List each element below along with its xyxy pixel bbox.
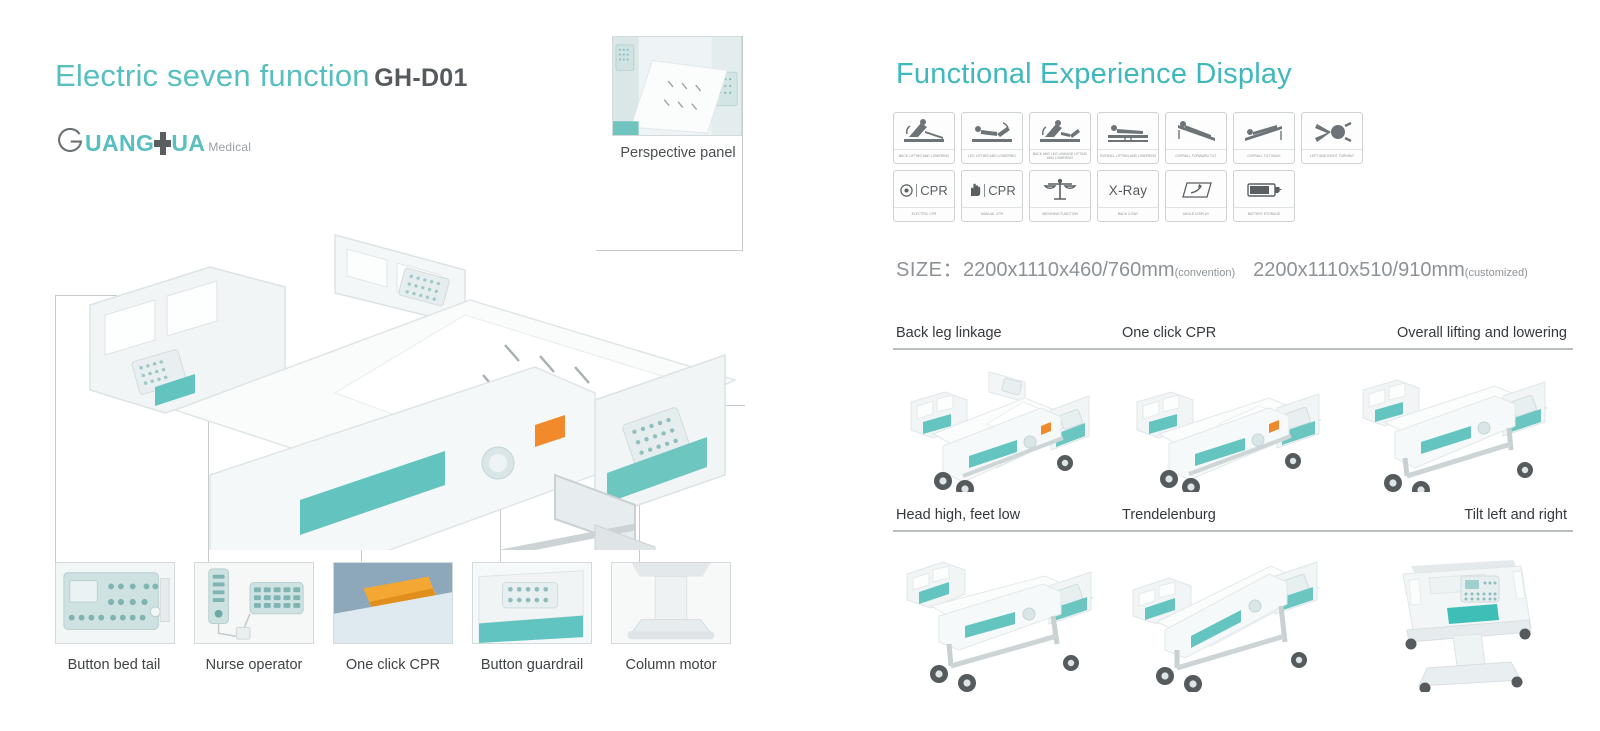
icon-label: BACK LIFTING AND LOWERING xyxy=(894,149,954,163)
control-panel-thumb xyxy=(55,562,175,644)
thumbnail-caption: Nurse operator xyxy=(194,657,314,673)
thumbnail-item: Nurse operator xyxy=(194,562,314,673)
gallery-images-row-1 xyxy=(893,350,1573,492)
hero-bed-image xyxy=(35,175,815,550)
icon-label: LEG LIFTING AND LOWERING xyxy=(962,149,1022,163)
overall-lifting-icon: OVERALL LIFTING AND LOWERING xyxy=(1097,112,1159,164)
brand-g-icon xyxy=(57,128,84,155)
page-title: Electric seven function GH-D01 xyxy=(55,58,468,94)
thumbnail-caption: Column motor xyxy=(611,657,731,673)
left-right-turning-icon: LEFT AND RIGHT TURNING xyxy=(1301,112,1363,164)
section-title: Functional Experience Display xyxy=(896,58,1292,91)
size-label: SIZE： xyxy=(896,259,963,281)
electric-cpr-icon: CPR ELECTRIC CPR xyxy=(893,170,955,222)
gallery-caption: Trendelenburg xyxy=(1119,507,1345,523)
gallery-caption: One click CPR xyxy=(1119,325,1345,341)
size-specification: SIZE：2200x1110x460/760mm(convention)2200… xyxy=(896,253,1528,282)
bed-back-leg-linkage xyxy=(893,350,1119,492)
title-main: Electric seven function xyxy=(55,58,370,93)
gallery: Back leg linkage One click CPR Overall l… xyxy=(893,325,1573,692)
gallery-images-row-2 xyxy=(893,532,1573,692)
bed-overall-lifting xyxy=(1345,350,1571,492)
thumbnail-item: Column motor xyxy=(611,562,731,673)
xray-text: X-Ray xyxy=(1109,183,1148,198)
brand-text-1: UANG xyxy=(85,130,154,156)
handset-thumb xyxy=(194,562,314,644)
icon-label: OVERALL TILT BACK xyxy=(1234,149,1294,163)
perspective-panel-caption: Perspective panel xyxy=(592,145,764,161)
gallery-caption: Back leg linkage xyxy=(893,325,1119,341)
brochure-page: Electric seven function GH-D01 UANGUA Me… xyxy=(0,0,1600,731)
bed-head-high-feet-low xyxy=(893,532,1119,692)
medical-cross-icon xyxy=(154,132,171,155)
cpr-lever-thumb xyxy=(333,562,453,644)
gallery-caption: Tilt left and right xyxy=(1345,507,1571,523)
icon-label: BACK AND LEG LINKAGE LIFTING AND LOWERIN… xyxy=(1030,149,1090,163)
thumbnail-caption: One click CPR xyxy=(333,657,453,673)
xray-icon: X-Ray BACK X-RAY xyxy=(1097,170,1159,222)
gallery-captions-row-2: Head high, feet low Trendelenburg Tilt l… xyxy=(893,507,1573,523)
column-motor-thumb xyxy=(611,562,731,644)
perspective-panel-image xyxy=(612,36,742,136)
icon-label: WEIGHING FUNCTION xyxy=(1030,207,1090,221)
cpr-text: CPR xyxy=(920,183,947,198)
gallery-block-2: Head high, feet low Trendelenburg Tilt l… xyxy=(893,507,1573,692)
angle-display-icon: ANGLE DISPLAY xyxy=(1165,170,1227,222)
size-note-1: (convention) xyxy=(1175,267,1236,279)
size-value-2: 2200x1110x510/910mm xyxy=(1253,259,1465,281)
icon-label: MANUAL CPR xyxy=(962,207,1022,221)
back-leg-linkage-icon: BACK AND LEG LINKAGE LIFTING AND LOWERIN… xyxy=(1029,112,1091,164)
weighing-scale-icon: WEIGHING FUNCTION xyxy=(1029,170,1091,222)
gallery-caption: Head high, feet low xyxy=(893,507,1119,523)
size-note-2: (customized) xyxy=(1465,267,1528,279)
icon-label: ELECTRIC CPR xyxy=(894,207,954,221)
battery-icon: BATTERY STORAGE xyxy=(1233,170,1295,222)
icon-label: BACK X-RAY xyxy=(1098,207,1158,221)
thumbnail-caption: Button bed tail xyxy=(53,657,175,673)
function-icon-row-2: CPR ELECTRIC CPR CPR xyxy=(893,170,1573,222)
bed-trendelenburg xyxy=(1119,532,1345,692)
gallery-captions-row-1: Back leg linkage One click CPR Overall l… xyxy=(893,325,1573,341)
thumbnail-item: One click CPR xyxy=(333,562,453,673)
left-panel: Electric seven function GH-D01 UANGUA Me… xyxy=(0,0,860,731)
thumbnail-item: Button bed tail xyxy=(55,562,175,673)
gallery-caption: Overall lifting and lowering xyxy=(1345,325,1571,341)
bed-one-click-cpr xyxy=(1119,350,1345,492)
cpr-text: CPR xyxy=(988,183,1015,198)
leg-lifting-icon: LEG LIFTING AND LOWERING xyxy=(961,112,1023,164)
thumbnail-item: Button guardrail xyxy=(472,562,592,673)
feature-thumbnail-list: Button bed tail xyxy=(55,562,731,673)
icon-label: OVERALL FORWARD TILT xyxy=(1166,149,1226,163)
function-icon-row-1: BACK LIFTING AND LOWERING LEG LIFTING AN… xyxy=(893,112,1573,164)
brand-suffix: Medical xyxy=(208,140,251,154)
brand-name: UANGUA xyxy=(85,131,205,155)
icon-label: BATTERY STORAGE xyxy=(1234,207,1294,221)
function-icon-grid: BACK LIFTING AND LOWERING LEG LIFTING AN… xyxy=(893,112,1573,228)
thumbnail-caption: Button guardrail xyxy=(472,657,592,673)
icon-label: ANGLE DISPLAY xyxy=(1166,207,1226,221)
brand-logo: UANGUA Medical xyxy=(57,128,251,155)
forward-tilt-icon: OVERALL FORWARD TILT xyxy=(1165,112,1227,164)
brand-text-2: UA xyxy=(171,130,205,156)
right-panel: Functional Experience Display BACK L xyxy=(860,0,1600,731)
back-lifting-icon: BACK LIFTING AND LOWERING xyxy=(893,112,955,164)
size-value-1: 2200x1110x460/760mm xyxy=(963,259,1175,281)
guardrail-thumb xyxy=(472,562,592,644)
icon-label: LEFT AND RIGHT TURNING xyxy=(1302,149,1362,163)
bed-tilt-left-right xyxy=(1345,532,1571,692)
title-model: GH-D01 xyxy=(374,64,468,92)
manual-cpr-icon: CPR MANUAL CPR xyxy=(961,170,1023,222)
icon-label: OVERALL LIFTING AND LOWERING xyxy=(1098,149,1158,163)
tilt-back-icon: OVERALL TILT BACK xyxy=(1233,112,1295,164)
